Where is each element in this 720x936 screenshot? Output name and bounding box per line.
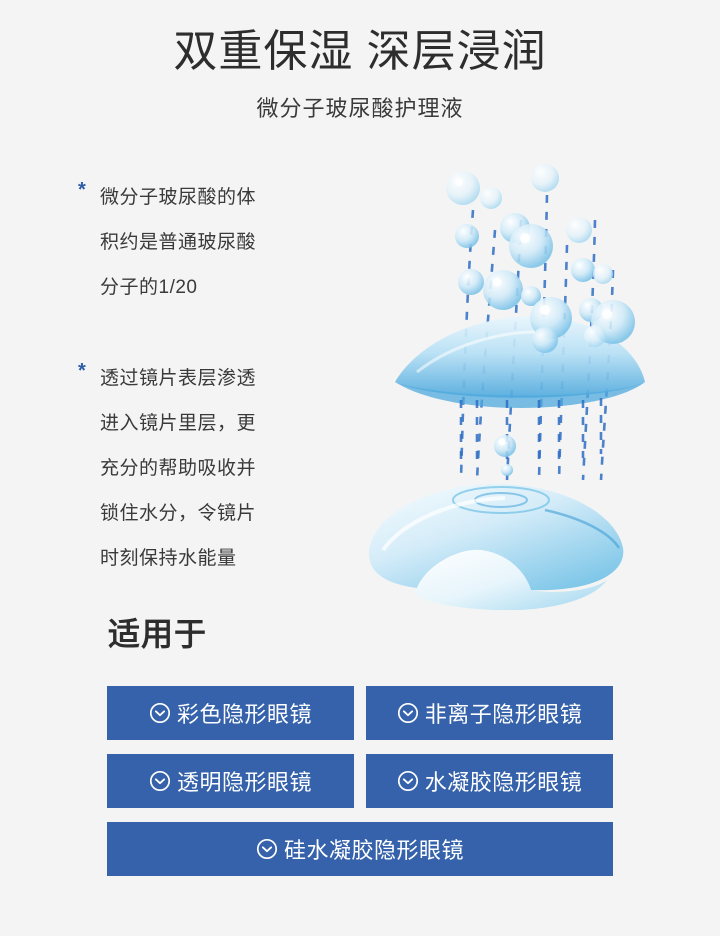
tag-nonionic-contact-lens[interactable]: 非离子隐形眼镜 [366,686,613,740]
tag-label: 硅水凝胶隐形眼镜 [284,833,464,865]
feature-line: 透过镜片表层渗透 [100,368,256,389]
tag-label: 透明隐形眼镜 [177,765,312,797]
feature-line: 锁住水分，令镜片 [100,503,256,524]
list-item: * 微分子玻尿酸的体 积约是普通玻尿酸 分子的1/20 [78,175,348,310]
applicable-heading: 适用于 [108,612,207,656]
tag-hydrogel-contact-lens[interactable]: 水凝胶隐形眼镜 [366,754,613,808]
feature-line: 时刻保持水能量 [100,548,237,569]
check-circle-icon [397,702,419,724]
asterisk-icon: * [78,356,100,386]
page-title: 双重保湿 深层浸润 [0,24,720,80]
feature-line: 充分的帮助吸收并 [100,458,256,479]
tag-color-contact-lens[interactable]: 彩色隐形眼镜 [107,686,354,740]
asterisk-icon: * [78,175,100,205]
feature-line: 积约是普通玻尿酸 [100,232,256,253]
feature-line: 进入镜片里层，更 [100,413,256,434]
list-item: * 透过镜片表层渗透 进入镜片里层，更 充分的帮助吸收并 锁住水分，令镜片 时刻… [78,356,348,581]
feature-line: 微分子玻尿酸的体 [100,187,256,208]
product-detail-page: 双重保湿 深层浸润 微分子玻尿酸护理液 * 微分子玻尿酸的体 积约是普通玻尿酸 … [0,0,720,936]
check-circle-icon [256,838,278,860]
tag-label: 非离子隐形眼镜 [425,697,583,729]
header: 双重保湿 深层浸润 微分子玻尿酸护理液 [0,24,720,124]
check-circle-icon [397,770,419,792]
check-circle-icon [149,702,171,724]
check-circle-icon [149,770,171,792]
feature-text: 透过镜片表层渗透 进入镜片里层，更 充分的帮助吸收并 锁住水分，令镜片 时刻保持… [100,356,315,581]
applicable-tag-list: 彩色隐形眼镜 非离子隐形眼镜 透明隐形眼镜 [107,686,613,876]
feature-list: * 微分子玻尿酸的体 积约是普通玻尿酸 分子的1/20 * 透过镜片表层渗透 进… [78,175,348,627]
page-subtitle: 微分子玻尿酸护理液 [0,94,720,124]
feature-text: 微分子玻尿酸的体 积约是普通玻尿酸 分子的1/20 [100,175,315,310]
hydration-illustration [355,150,675,610]
tag-silicone-hydrogel-contact-lens[interactable]: 硅水凝胶隐形眼镜 [107,822,613,876]
feature-line: 分子的1/20 [100,277,197,298]
tag-clear-contact-lens[interactable]: 透明隐形眼镜 [107,754,354,808]
tag-label: 水凝胶隐形眼镜 [425,765,583,797]
tag-label: 彩色隐形眼镜 [177,697,312,729]
